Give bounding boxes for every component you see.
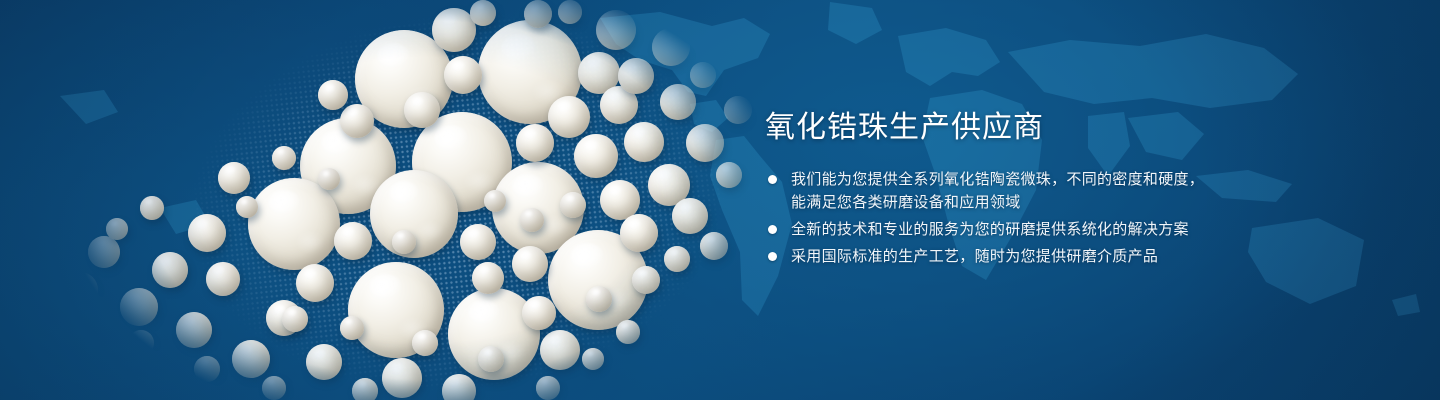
- hero-banner: 氧化锆珠生产供应商 我们能为您提供全系列氧化锆陶瓷微珠，不同的密度和硬度，能满足…: [0, 0, 1440, 400]
- banner-vignette: [0, 0, 1440, 400]
